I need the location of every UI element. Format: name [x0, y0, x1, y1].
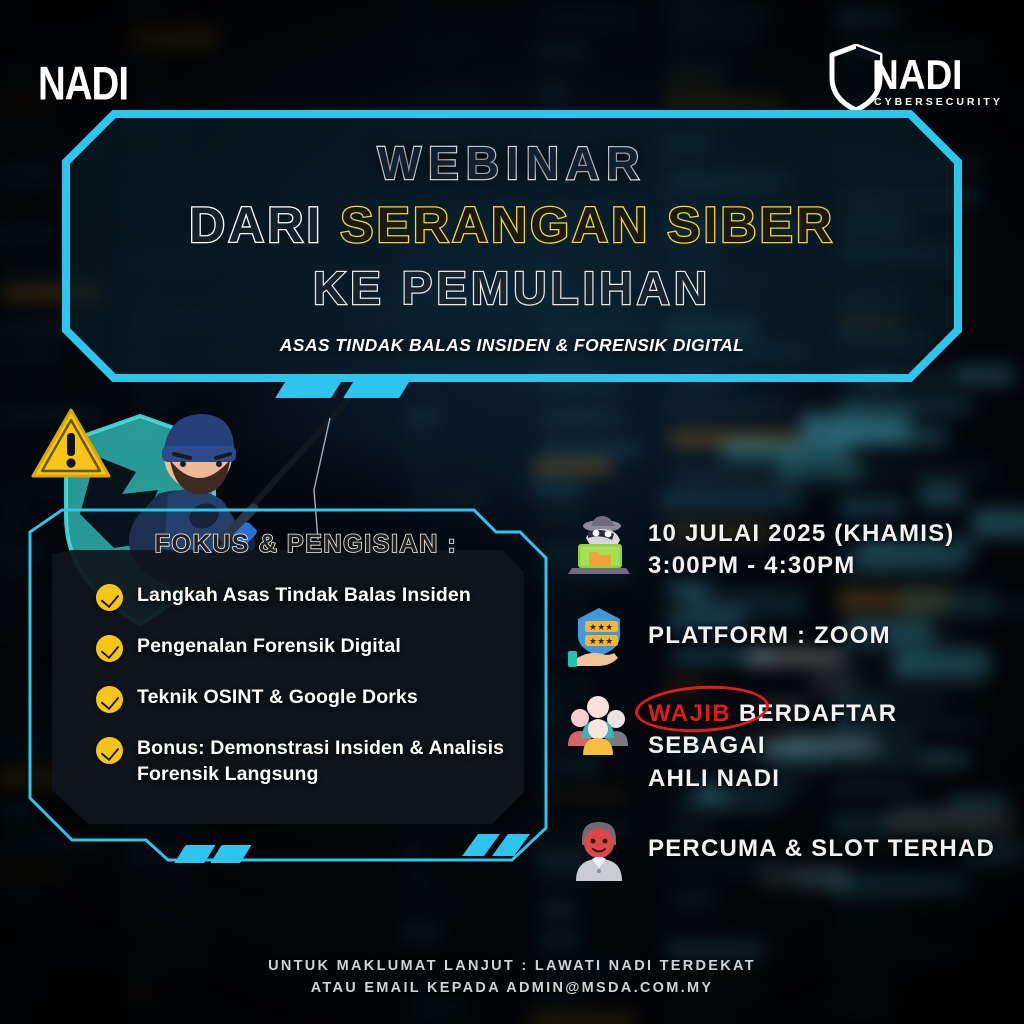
event-info-list: 10 JULAI 2025 (KHAMIS) 3:00PM - 4:30PM ★… [566, 512, 1016, 905]
check-circle-icon [96, 686, 123, 713]
check-circle-icon [96, 737, 123, 764]
people-group-icon [566, 692, 632, 758]
info-row-date: 10 JULAI 2025 (KHAMIS) 3:00PM - 4:30PM [566, 512, 1016, 582]
focus-bullet-label: Teknik OSINT & Google Dorks [137, 685, 418, 711]
info-row-platform: ★★★ ★★★ PLATFORM : ZOOM [566, 604, 1016, 670]
event-platform: PLATFORM : ZOOM [648, 604, 891, 652]
title-line-2-yellow: SERANGAN SIBER [340, 197, 835, 253]
decor-slashes-bottom [180, 845, 300, 871]
focus-bullet-item: Pengenalan Forensik Digital [96, 634, 542, 662]
warning-triangle-icon [30, 406, 112, 480]
check-circle-icon [96, 584, 123, 611]
title-frame: WEBINAR DARI SERANGAN SIBER KE PEMULIHAN… [62, 110, 962, 382]
logo-subtitle: CYBERSECURITY [874, 96, 1003, 108]
register-line-1: WAJIB BERDAFTAR SEBAGAI [648, 698, 1016, 762]
nadi-wordmark: NADI [38, 58, 128, 111]
check-circle-icon [96, 635, 123, 662]
person-icon [566, 817, 632, 883]
title-line-1: WEBINAR [378, 140, 647, 187]
info-register-text: WAJIB BERDAFTAR SEBAGAI AHLI NADI [648, 692, 1016, 794]
focus-bullet-item: Bonus: Demonstrasi Insiden & Analisis Fo… [96, 736, 542, 787]
info-date-text: 10 JULAI 2025 (KHAMIS) 3:00PM - 4:30PM [648, 512, 954, 582]
footer-line-1: UNTUK MAKLUMAT LANJUT : LAWATI NADI TERD… [0, 955, 1024, 977]
spy-laptop-icon [566, 512, 632, 578]
focus-bullet-label: Pengenalan Forensik Digital [137, 634, 401, 660]
focus-bullet-list: Langkah Asas Tindak Balas InsidenPengena… [44, 583, 548, 787]
event-time: 3:00PM - 4:30PM [648, 550, 954, 582]
focus-bullet-label: Bonus: Demonstrasi Insiden & Analisis Fo… [137, 736, 542, 787]
event-date: 10 JULAI 2025 (KHAMIS) [648, 518, 954, 550]
focus-bullet-item: Langkah Asas Tindak Balas Insiden [96, 583, 542, 611]
event-free-slots: PERCUMA & SLOT TERHAD [648, 817, 995, 865]
footer-contact: UNTUK MAKLUMAT LANJUT : LAWATI NADI TERD… [0, 955, 1024, 1000]
title-line-2: DARI SERANGAN SIBER [189, 200, 835, 252]
focus-bullet-item: Teknik OSINT & Google Dorks [96, 685, 542, 713]
title-line-3: KE PEMULIHAN [313, 265, 711, 312]
nadi-cybersecurity-logo: NADI CYBERSECURITY [810, 44, 990, 116]
webinar-poster: NADI NADI CYBERSECURITY WEBINAR DARI SER… [0, 0, 1024, 1024]
svg-text:★★★: ★★★ [589, 637, 613, 647]
footer-line-2: ATAU EMAIL KEPADA ADMIN@MSDA.COM.MY [0, 977, 1024, 999]
title-line-2-white: DARI [189, 197, 340, 253]
shield-password-hand-icon: ★★★ ★★★ [566, 604, 632, 670]
title-subtitle: ASAS TINDAK BALAS INSIDEN & FORENSIK DIG… [280, 335, 745, 356]
focus-bullet-label: Langkah Asas Tindak Balas Insiden [137, 583, 471, 609]
info-row-free: PERCUMA & SLOT TERHAD [566, 817, 1016, 883]
svg-text:★★★: ★★★ [589, 623, 613, 633]
wajib-emphasis: WAJIB [648, 700, 731, 727]
register-line-2: AHLI NADI [648, 763, 1016, 795]
info-row-register: WAJIB BERDAFTAR SEBAGAI AHLI NADI [566, 692, 1016, 794]
focus-heading: FOKUS & PENGISIAN : [64, 530, 548, 559]
logo-name: NADI [872, 52, 962, 99]
focus-panel: FOKUS & PENGISIAN : Langkah Asas Tindak … [26, 498, 566, 870]
